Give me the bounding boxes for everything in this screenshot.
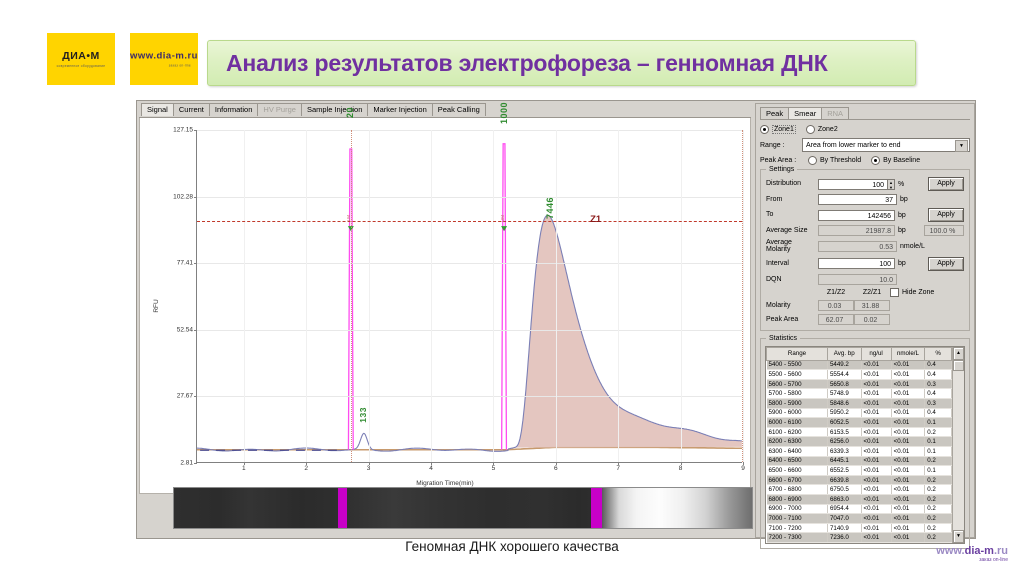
table-cell: 7140.9: [827, 523, 861, 533]
x-tick-label: 2: [304, 465, 308, 472]
y-tick-label: 27.67: [177, 393, 193, 400]
table-cell: <0.01: [891, 360, 925, 370]
table-cell: <0.01: [861, 475, 891, 485]
setting-value-distribution[interactable]: 100: [818, 179, 888, 190]
table-cell: 0.4: [925, 370, 952, 380]
statistics-group-title: Statistics: [766, 335, 800, 342]
zone1-label: Z1: [590, 214, 601, 225]
setting-label-distribution: Distribution: [766, 180, 818, 187]
table-cell: 6552.5: [827, 466, 861, 476]
x-gridline: [306, 130, 307, 462]
table-cell: 0.3: [925, 379, 952, 389]
table-cell: <0.01: [891, 437, 925, 447]
table-cell: <0.01: [891, 427, 925, 437]
scrollbar-thumb[interactable]: [953, 360, 964, 371]
main-tabbar: SignalCurrentInformationHV PurgeSample I…: [139, 103, 751, 118]
footer-url: www.dia-m.ru: [936, 546, 1008, 557]
y-gridline: [197, 130, 742, 131]
logo-diam: ДИА•М современное оборудование: [47, 33, 115, 85]
chromatogram-chart[interactable]: RFU Migration Time(min) 127.15102.2877.4…: [139, 118, 751, 494]
table-row[interactable]: 5700 - 58005748.9<0.01<0.010.4: [767, 389, 952, 399]
setting-value-average-size: 21987.8: [818, 225, 895, 236]
table-row[interactable]: 6800 - 69006863.0<0.01<0.010.2: [767, 495, 952, 505]
tab-signal[interactable]: Signal: [141, 103, 174, 116]
table-cell: 0.4: [925, 408, 952, 418]
peak-label-133: 133: [358, 407, 368, 423]
setting-row-average-size: Average Size21987.8bp100.0 %: [766, 225, 964, 236]
setting-value-dqn: 10.0: [818, 274, 897, 285]
x-tick-label: 5: [492, 465, 496, 472]
table-cell: 6400 - 6500: [767, 456, 828, 466]
table-row[interactable]: 5800 - 59005848.6<0.01<0.010.3: [767, 399, 952, 409]
table-cell: 5600 - 5700: [767, 379, 828, 389]
zone-ratio-value-z2z1: 31.88: [854, 300, 890, 311]
table-cell: <0.01: [861, 418, 891, 428]
table-cell: <0.01: [891, 408, 925, 418]
y-tick-mark: [194, 263, 197, 264]
radio-by-baseline[interactable]: [871, 156, 880, 165]
table-cell: <0.01: [891, 456, 925, 466]
setting-value-interval[interactable]: 100: [818, 258, 895, 269]
signal-trace: [197, 130, 742, 462]
setting-label-dqn: DQN: [766, 276, 818, 283]
table-cell: <0.01: [861, 447, 891, 457]
setting-unit-from: bp: [900, 196, 926, 203]
table-cell: <0.01: [891, 466, 925, 476]
setting-unit-interval: bp: [898, 260, 924, 267]
y-gridline: [197, 330, 742, 331]
peak-label-20: 20: [345, 107, 355, 118]
table-row[interactable]: 6100 - 62006153.5<0.01<0.010.2: [767, 427, 952, 437]
table-cell: <0.01: [861, 504, 891, 514]
table-cell: 0.2: [925, 523, 952, 533]
hide-zone-label: Hide Zone: [902, 289, 934, 296]
table-row[interactable]: 6500 - 66006552.5<0.01<0.010.1: [767, 466, 952, 476]
zone1-threshold-line: [197, 221, 742, 222]
y-tick-label: 127.15: [173, 127, 193, 134]
zone-ratio-header: Z1/Z2 Z2/Z1 Hide Zone: [766, 288, 964, 297]
y-tick-mark: [194, 197, 197, 198]
table-row[interactable]: 7000 - 71007047.0<0.01<0.010.2: [767, 514, 952, 524]
smear-settings-panel: PeakSmearRNA Zone1Zone2 Range : Area fro…: [755, 103, 975, 538]
table-cell: 0.1: [925, 466, 952, 476]
range-value: Area from lower marker to end: [806, 142, 901, 149]
table-cell: 7047.0: [827, 514, 861, 524]
y-gridline: [197, 197, 742, 198]
gel-band-upper-marker: [591, 488, 602, 528]
table-row[interactable]: 5400 - 55005449.2<0.01<0.010.4: [767, 360, 952, 370]
label-by-baseline[interactable]: By Baseline: [883, 157, 920, 164]
table-cell: 6000 - 6100: [767, 418, 828, 428]
zone-ratio-col1: Z1/Z2: [818, 289, 854, 296]
setting-unit-average-molarity: nmole/L: [900, 243, 926, 250]
table-row[interactable]: 5900 - 60005950.2<0.01<0.010.4: [767, 408, 952, 418]
table-cell: 6600 - 6700: [767, 475, 828, 485]
table-header-row: RangeAvg. bpng/ulnmole/L%: [767, 347, 952, 360]
radio-zone1[interactable]: [760, 125, 769, 134]
settings-group: Settings Distribution100▲▼%ApplyFrom37bp…: [760, 169, 970, 331]
table-cell: 6256.0: [827, 437, 861, 447]
x-tick-label: 6: [554, 465, 558, 472]
zone-ratio-value-z1z2: 0.03: [818, 300, 854, 311]
table-cell: 5900 - 6000: [767, 408, 828, 418]
table-cell: 5650.8: [827, 379, 861, 389]
table-cell: 6750.5: [827, 485, 861, 495]
table-cell: <0.01: [861, 360, 891, 370]
setting-value-to[interactable]: 142456: [818, 210, 895, 221]
x-tick-label: 1: [242, 465, 246, 472]
table-cell: 6639.8: [827, 475, 861, 485]
footer-url-brand: dia-m: [965, 545, 994, 557]
x-gridline: [431, 130, 432, 462]
tab-peak-calling[interactable]: Peak Calling: [432, 103, 486, 116]
x-gridline: [244, 130, 245, 462]
table-cell: <0.01: [861, 514, 891, 524]
table-cell: 5950.2: [827, 408, 861, 418]
setting-label-average-molarity: AverageMolarity: [766, 239, 818, 254]
table-cell: 6863.0: [827, 495, 861, 505]
label-by-threshold[interactable]: By Threshold: [820, 157, 861, 164]
table-cell: <0.01: [861, 389, 891, 399]
table-row[interactable]: 6200 - 63006256.0<0.01<0.010.1: [767, 437, 952, 447]
column-header-avg-bp[interactable]: Avg. bp: [827, 347, 861, 360]
y-tick-label: 52.54: [177, 326, 193, 333]
table-cell: 0.2: [925, 475, 952, 485]
column-header-nmole-l[interactable]: nmole/L: [891, 347, 925, 360]
table-cell: 0.2: [925, 456, 952, 466]
table-cell: <0.01: [891, 389, 925, 399]
radio-by-threshold[interactable]: [808, 156, 817, 165]
setting-row-interval: Interval100bpApply: [766, 257, 964, 271]
y-gridline: [197, 263, 742, 264]
table-cell: 0.2: [925, 495, 952, 505]
table-cell: <0.01: [891, 514, 925, 524]
table-cell: 5500 - 5600: [767, 370, 828, 380]
zone-ratio-col2: Z2/Z1: [854, 289, 890, 296]
table-cell: 0.3: [925, 399, 952, 409]
table-cell: 6954.4: [827, 504, 861, 514]
gel-lane-image[interactable]: [173, 487, 753, 529]
table-row[interactable]: 6000 - 61006052.5<0.01<0.010.1: [767, 418, 952, 428]
gel-band-lower-marker: [338, 488, 347, 528]
table-cell: <0.01: [891, 370, 925, 380]
table-cell: 6100 - 6200: [767, 427, 828, 437]
zone-ratio-value-z2z1: 0.02: [854, 314, 890, 325]
tab-hv-purge: HV Purge: [257, 103, 302, 116]
setting-value-from[interactable]: 37: [818, 194, 897, 205]
statistics-table-container[interactable]: RangeAvg. bpng/ulnmole/L% 5400 - 5500544…: [765, 346, 965, 544]
peak-area-label: Peak Area :: [760, 157, 798, 164]
setting-value-average-molarity: 0.53: [818, 241, 897, 252]
setting-unit-distribution: %: [898, 181, 924, 188]
panel-tab-peak[interactable]: Peak: [760, 107, 789, 119]
x-gridline: [556, 130, 557, 462]
x-gridline: [369, 130, 370, 462]
zone-ratio-value-z1z2: 62.07: [818, 314, 854, 325]
logo-website-text: www.dia-m.ru: [130, 51, 198, 62]
table-row[interactable]: 6900 - 70006954.4<0.01<0.010.2: [767, 504, 952, 514]
signal-panel: SignalCurrentInformationHV PurgeSample I…: [139, 103, 751, 536]
panel-tab-rna: RNA: [821, 107, 849, 119]
chevron-down-icon[interactable]: ▼: [955, 140, 968, 152]
slide-title-band: Анализ результатов электрофореза – генно…: [207, 40, 916, 86]
table-cell: <0.01: [861, 399, 891, 409]
x-tick-label: 9: [741, 465, 745, 472]
zone-ratio-row: Peak Area62.070.02: [766, 314, 964, 325]
setting-row-dqn: DQN10.0: [766, 274, 964, 285]
table-cell: 0.1: [925, 418, 952, 428]
table-cell: 5748.9: [827, 389, 861, 399]
footer-url-www: www.: [936, 545, 964, 557]
logo-website-subtext: заказ on-line: [130, 64, 198, 68]
table-cell: 6200 - 6300: [767, 437, 828, 447]
y-tick-label: 102.28: [173, 193, 193, 200]
table-cell: 6900 - 7000: [767, 504, 828, 514]
y-tick-mark: [194, 330, 197, 331]
table-cell: <0.01: [891, 379, 925, 389]
x-tick-label: 4: [429, 465, 433, 472]
range-row: Range : Area from lower marker to end ▼: [760, 138, 970, 152]
footer-subtext: заказ on-line: [936, 558, 1008, 563]
statistics-scrollbar[interactable]: ▲ ▼: [952, 347, 964, 543]
table-cell: 5700 - 5800: [767, 389, 828, 399]
hide-zone-checkbox[interactable]: [890, 288, 899, 297]
spinner-up-down-icon[interactable]: ▲▼: [888, 179, 895, 190]
logo-website: www.dia-m.ru заказ on-line: [130, 33, 198, 85]
table-cell: <0.01: [861, 456, 891, 466]
logo-diam-subtext: современное оборудование: [47, 64, 115, 68]
table-cell: 5800 - 5900: [767, 399, 828, 409]
lower-marker-line: [351, 130, 352, 462]
table-cell: 5449.2: [827, 360, 861, 370]
setting-label-to: To: [766, 211, 818, 218]
tab-information[interactable]: Information: [209, 103, 259, 116]
setting-label-average-size: Average Size: [766, 227, 818, 234]
table-cell: 6153.5: [827, 427, 861, 437]
table-cell: 6700 - 6800: [767, 485, 828, 495]
table-cell: <0.01: [891, 418, 925, 428]
statistics-table-viewport: RangeAvg. bpng/ulnmole/L% 5400 - 5500544…: [766, 347, 952, 543]
table-cell: 6339.3: [827, 447, 861, 457]
marker-tag-um: UM: [500, 215, 505, 222]
y-gridline: [197, 396, 742, 397]
table-row[interactable]: 6300 - 64006339.3<0.01<0.010.1: [767, 447, 952, 457]
table-cell: <0.01: [891, 504, 925, 514]
label-zone2[interactable]: Zone2: [818, 126, 838, 133]
label-zone1[interactable]: Zone1: [772, 125, 796, 134]
end-marker-line: [742, 130, 743, 462]
table-cell: 5554.4: [827, 370, 861, 380]
table-row[interactable]: 6400 - 65006445.1<0.01<0.010.2: [767, 456, 952, 466]
table-cell: <0.01: [861, 437, 891, 447]
table-cell: 0.2: [925, 504, 952, 514]
y-tick-mark: [194, 396, 197, 397]
application-window: SignalCurrentInformationHV PurgeSample I…: [136, 100, 976, 539]
apply-button-distribution[interactable]: Apply: [928, 177, 964, 191]
setting-row-average-molarity: AverageMolarity0.53nmole/L: [766, 239, 964, 254]
column-header-range[interactable]: Range: [767, 347, 828, 360]
table-cell: 6300 - 6400: [767, 447, 828, 457]
x-tick-label: 3: [367, 465, 371, 472]
apply-button-to[interactable]: Apply: [928, 208, 964, 222]
table-cell: <0.01: [861, 408, 891, 418]
x-axis-label: Migration Time(min): [140, 480, 750, 487]
y-tick-mark: [194, 463, 197, 464]
statistics-group: Statistics RangeAvg. bpng/ulnmole/L% 540…: [760, 338, 970, 549]
setting-row-from: From37bp: [766, 194, 964, 205]
plot-area[interactable]: 127.15102.2877.4152.5427.672.81123456789…: [196, 130, 742, 463]
column-header-ng-ul[interactable]: ng/ul: [861, 347, 891, 360]
setting-label-from: From: [766, 196, 818, 203]
table-cell: 5400 - 5500: [767, 360, 828, 370]
table-cell: <0.01: [861, 495, 891, 505]
table-row[interactable]: 7100 - 72007140.9<0.01<0.010.2: [767, 523, 952, 533]
table-cell: 5848.6: [827, 399, 861, 409]
y-tick-mark: [194, 130, 197, 131]
settings-group-title: Settings: [766, 166, 797, 173]
table-row[interactable]: 6700 - 68006750.5<0.01<0.010.2: [767, 485, 952, 495]
y-axis-label: RFU: [153, 299, 160, 312]
peak-label-1000: 1000: [499, 102, 509, 124]
table-cell: 0.2: [925, 485, 952, 495]
table-cell: <0.01: [891, 475, 925, 485]
range-dropdown[interactable]: Area from lower marker to end ▼: [802, 138, 970, 152]
panel-tabbar: PeakSmearRNA: [760, 107, 970, 120]
table-cell: 6800 - 6900: [767, 495, 828, 505]
table-cell: <0.01: [861, 466, 891, 476]
statistics-table: RangeAvg. bpng/ulnmole/L% 5400 - 5500544…: [766, 347, 952, 543]
tab-sample-injection[interactable]: Sample Injection: [301, 103, 368, 116]
table-cell: <0.01: [891, 523, 925, 533]
footer-logo: www.dia-m.ru заказ on-line: [936, 546, 1008, 563]
tab-current[interactable]: Current: [173, 103, 210, 116]
zone-ratio-row: Molarity0.0331.88: [766, 300, 964, 311]
peak-label-7446: 7446: [545, 197, 555, 219]
setting-extra-average-size: 100.0 %: [924, 225, 964, 236]
gel-gradient: [174, 488, 752, 528]
setting-row-to: To142456bpApply: [766, 208, 964, 222]
table-cell: 0.2: [925, 427, 952, 437]
x-gridline: [493, 130, 494, 462]
slide-caption: Геномная ДНК хорошего качества: [0, 539, 1024, 554]
zone-ratio-name: Molarity: [766, 302, 818, 309]
table-cell: 7000 - 7100: [767, 514, 828, 524]
setting-unit-average-size: bp: [898, 227, 924, 234]
column-header--[interactable]: %: [925, 347, 952, 360]
table-cell: 0.2: [925, 514, 952, 524]
logo-diam-text: ДИА•М: [47, 50, 115, 62]
table-cell: <0.01: [861, 379, 891, 389]
table-cell: 0.4: [925, 389, 952, 399]
marker-tag-lm: LM: [346, 215, 351, 221]
table-cell: <0.01: [891, 485, 925, 495]
panel-tab-smear[interactable]: Smear: [788, 107, 822, 119]
table-cell: <0.01: [891, 399, 925, 409]
table-cell: 6500 - 6600: [767, 466, 828, 476]
table-cell: <0.01: [861, 523, 891, 533]
page-title: Анализ результатов электрофореза – генно…: [208, 50, 828, 77]
table-cell: <0.01: [861, 485, 891, 495]
table-cell: 0.1: [925, 437, 952, 447]
setting-row-distribution: Distribution100▲▼%Apply: [766, 177, 964, 191]
table-cell: <0.01: [891, 495, 925, 505]
y-tick-label: 77.41: [177, 260, 193, 267]
table-cell: 0.1: [925, 447, 952, 457]
zone-radio-group: Zone1Zone2: [760, 125, 970, 134]
table-cell: 7100 - 7200: [767, 523, 828, 533]
table-cell: <0.01: [861, 427, 891, 437]
table-cell: 0.4: [925, 360, 952, 370]
setting-unit-to: bp: [898, 212, 924, 219]
table-row[interactable]: 5500 - 56005554.4<0.01<0.010.4: [767, 370, 952, 380]
table-cell: <0.01: [891, 447, 925, 457]
x-tick-label: 8: [679, 465, 683, 472]
table-row[interactable]: 6600 - 67006639.8<0.01<0.010.2: [767, 475, 952, 485]
radio-zone2[interactable]: [806, 125, 815, 134]
peak-area-radio-group: Peak Area : By ThresholdBy Baseline: [760, 156, 970, 165]
x-gridline: [743, 130, 744, 462]
table-cell: 6052.5: [827, 418, 861, 428]
zone-ratio-name: Peak Area: [766, 316, 818, 323]
x-tick-label: 7: [616, 465, 620, 472]
y-tick-label: 2.81: [180, 460, 193, 467]
footer-url-ru: ru: [997, 545, 1008, 557]
slide: ДИА•М современное оборудование www.dia-m…: [0, 0, 1024, 576]
table-cell: <0.01: [861, 370, 891, 380]
apply-button-interval[interactable]: Apply: [928, 257, 964, 271]
x-gridline: [618, 130, 619, 462]
scroll-up-icon[interactable]: ▲: [953, 347, 964, 360]
range-label: Range :: [760, 142, 792, 149]
table-cell: 6445.1: [827, 456, 861, 466]
tab-marker-injection[interactable]: Marker Injection: [367, 103, 432, 116]
setting-label-interval: Interval: [766, 260, 818, 267]
x-gridline: [681, 130, 682, 462]
table-row[interactable]: 5600 - 57005650.8<0.01<0.010.3: [767, 379, 952, 389]
